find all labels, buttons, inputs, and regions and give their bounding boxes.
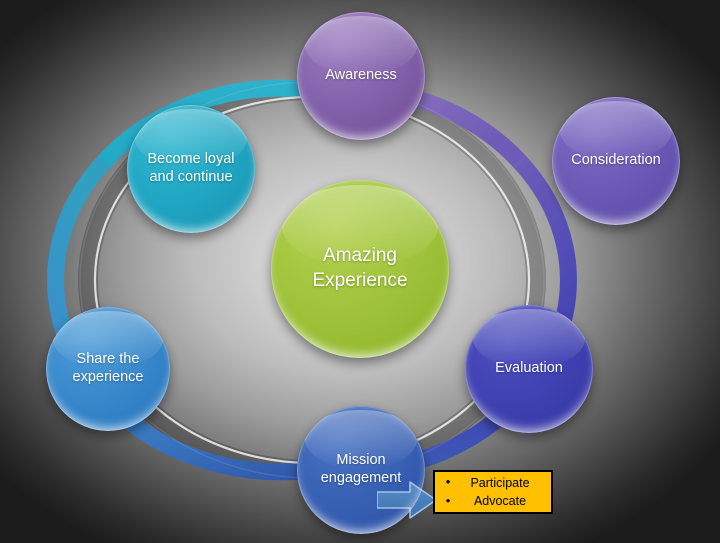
callout-list-item: • Advocate — [435, 492, 551, 511]
node-become-loyal-and-continue-label: Become loyal and continue — [141, 151, 240, 186]
node-consideration-label: Consideration — [565, 152, 666, 170]
callout-item-participate: Participate — [461, 474, 551, 492]
node-awareness[interactable]: Awareness — [297, 12, 425, 140]
node-mission-engagement-label: Mission engagement — [315, 452, 408, 487]
center-node-amazing-experience[interactable]: Amazing Experience — [271, 180, 449, 358]
center-node-label: Amazing Experience — [306, 244, 413, 293]
callout-list-item: • Participate — [435, 473, 551, 492]
callout-item-advocate: Advocate — [461, 492, 551, 510]
bullet-icon: • — [435, 492, 461, 511]
node-share-the-experience-label: Share the experience — [67, 351, 150, 386]
callout-box[interactable]: • Participate • Advocate — [433, 470, 553, 514]
node-share-the-experience[interactable]: Share the experience — [46, 307, 170, 431]
node-evaluation[interactable]: Evaluation — [465, 305, 593, 433]
node-evaluation-label: Evaluation — [489, 360, 569, 378]
diagram-canvas: Amazing Experience Awareness Considerati… — [0, 0, 720, 543]
bullet-icon: • — [435, 473, 461, 492]
node-consideration[interactable]: Consideration — [552, 97, 680, 225]
node-awareness-label: Awareness — [319, 67, 402, 85]
node-become-loyal-and-continue[interactable]: Become loyal and continue — [127, 105, 255, 233]
